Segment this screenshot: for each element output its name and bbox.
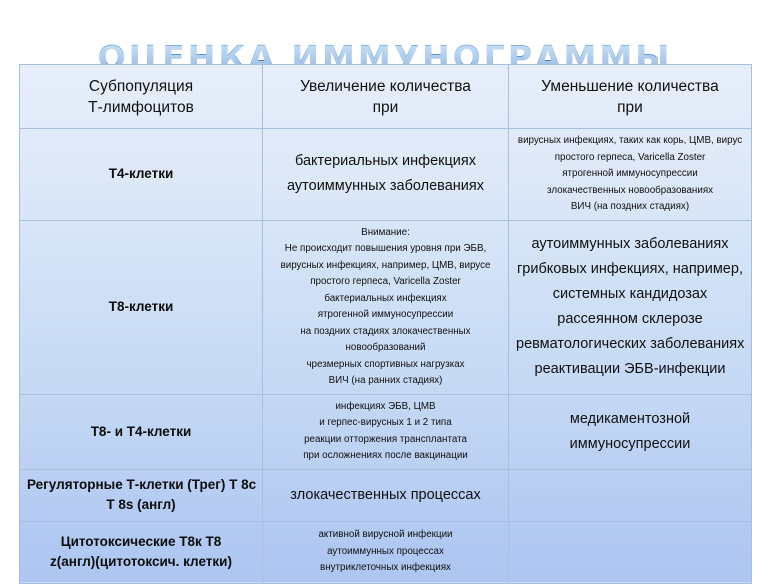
text-line: ятрогенной иммуносупрессии — [270, 307, 501, 324]
cell-increase-treg: злокачественных процессах — [263, 469, 509, 521]
text-line: Не происходит повышения уровня при ЭБВ, — [270, 241, 501, 258]
text-line: простого герпеса, Varicella Zoster — [516, 150, 744, 167]
text-line: на поздних стадиях злокачественных — [270, 324, 501, 341]
text-line: при осложнениях после вакцинации — [270, 448, 501, 465]
text-line: медикаментозной — [516, 407, 744, 432]
text-line: реактивации ЭБВ-инфекции — [516, 357, 744, 382]
cell-decrease-t8: аутоиммунных заболеваниях грибковых инфе… — [509, 220, 752, 394]
cell-increase-t8t4: инфекциях ЭБВ, ЦМВ и герпес-вирусных 1 и… — [263, 394, 509, 469]
table-row: Т8- и Т4-клетки инфекциях ЭБВ, ЦМВ и гер… — [20, 394, 752, 469]
row-label-t8t4: Т8- и Т4-клетки — [20, 394, 263, 469]
text-line: злокачественных новообразованиях — [516, 183, 744, 200]
text-line: новообразований — [270, 340, 501, 357]
header-line: Т-лимфоцитов — [27, 97, 255, 118]
label-line: Т 8s (англ) — [27, 495, 255, 515]
text-line: Внимание: — [270, 225, 501, 242]
table-row: Регуляторные Т-клетки (Трег) Т 8с Т 8s (… — [20, 469, 752, 521]
text-line: ревматологических заболеваниях — [516, 332, 744, 357]
column-header-subpopulation: Субпопуляция Т-лимфоцитов — [20, 65, 263, 129]
header-line: при — [270, 97, 501, 118]
label-line: Цитотоксические Т8к Т8 — [27, 532, 255, 552]
text-line: инфекциях ЭБВ, ЦМВ — [270, 399, 501, 416]
header-line: Уменьшение количества — [516, 76, 744, 97]
text-line: вирусных инфекциях, например, ЦМВ, вирус… — [270, 258, 501, 275]
table-row: Т8-клетки Внимание: Не происходит повыше… — [20, 220, 752, 394]
table-header: Субпопуляция Т-лимфоцитов Увеличение кол… — [20, 65, 752, 129]
text-line: системных кандидозах — [516, 282, 744, 307]
text-line: реакции отторжения трансплантата — [270, 432, 501, 449]
header-line: Субпопуляция — [27, 76, 255, 97]
table-row: Цитотоксические Т8к Т8 z(англ)(цитотокси… — [20, 521, 752, 583]
row-label-t8: Т8-клетки — [20, 220, 263, 394]
cell-decrease-cytotoxic — [509, 521, 752, 583]
cell-increase-t4: бактериальных инфекциях аутоиммунных заб… — [263, 129, 509, 221]
cell-decrease-treg — [509, 469, 752, 521]
text-line: ятрогенной иммуносупрессии — [516, 166, 744, 183]
text-line: простого герпеса, Varicella Zoster — [270, 274, 501, 291]
text-line: чрезмерных спортивных нагрузках — [270, 357, 501, 374]
text-line: аутоиммунных заболеваниях — [516, 232, 744, 257]
row-label-cytotoxic: Цитотоксические Т8к Т8 z(англ)(цитотокси… — [20, 521, 263, 583]
header-row: Субпопуляция Т-лимфоцитов Увеличение кол… — [20, 65, 752, 129]
text-line: внутриклеточных инфекциях — [270, 560, 501, 577]
text-line: и герпес-вирусных 1 и 2 типа — [270, 415, 501, 432]
text-line: вирусных инфекциях, таких как корь, ЦМВ,… — [516, 133, 744, 150]
text-line: аутоиммунных заболеваниях — [270, 174, 501, 199]
text-line: ВИЧ (на ранних стадиях) — [270, 373, 501, 390]
cell-decrease-t4: вирусных инфекциях, таких как корь, ЦМВ,… — [509, 129, 752, 221]
table-row: Т4-клетки бактериальных инфекциях аутоим… — [20, 129, 752, 221]
cell-decrease-t8t4: медикаментозной иммуносупрессии — [509, 394, 752, 469]
column-header-decrease: Уменьшение количества при — [509, 65, 752, 129]
label-line: Регуляторные Т-клетки (Трег) Т 8с — [27, 475, 255, 495]
row-label-treg: Регуляторные Т-клетки (Трег) Т 8с Т 8s (… — [20, 469, 263, 521]
text-line: иммуносупрессии — [516, 432, 744, 457]
text-line: аутоиммунных процессах — [270, 544, 501, 561]
table-body: Т4-клетки бактериальных инфекциях аутоим… — [20, 129, 752, 584]
text-line: грибковых инфекциях, например, — [516, 257, 744, 282]
text-line: злокачественных процессах — [270, 483, 501, 508]
text-line: рассеянном склерозе — [516, 307, 744, 332]
label-line: Т8- и Т4-клетки — [27, 422, 255, 442]
cell-increase-cytotoxic: активной вирусной инфекции аутоиммунных … — [263, 521, 509, 583]
column-header-increase: Увеличение количества при — [263, 65, 509, 129]
text-line: бактериальных инфекциях — [270, 291, 501, 308]
text-line: бактериальных инфекциях — [270, 149, 501, 174]
cell-increase-t8: Внимание: Не происходит повышения уровня… — [263, 220, 509, 394]
row-label-t4: Т4-клетки — [20, 129, 263, 221]
text-line: активной вирусной инфекции — [270, 527, 501, 544]
text-line: ВИЧ (на поздних стадиях) — [516, 199, 744, 216]
header-line: при — [516, 97, 744, 118]
label-line: Т4-клетки — [27, 164, 255, 184]
label-line: z(англ)(цитотоксич. клетки) — [27, 552, 255, 572]
slide-canvas: ОЦЕНКА ИММУНОГРАММЫ Субпопуляция Т-лимфо… — [0, 0, 770, 577]
immunogram-table: Субпопуляция Т-лимфоцитов Увеличение кол… — [19, 64, 752, 584]
label-line: Т8-клетки — [27, 297, 255, 317]
header-line: Увеличение количества — [270, 76, 501, 97]
